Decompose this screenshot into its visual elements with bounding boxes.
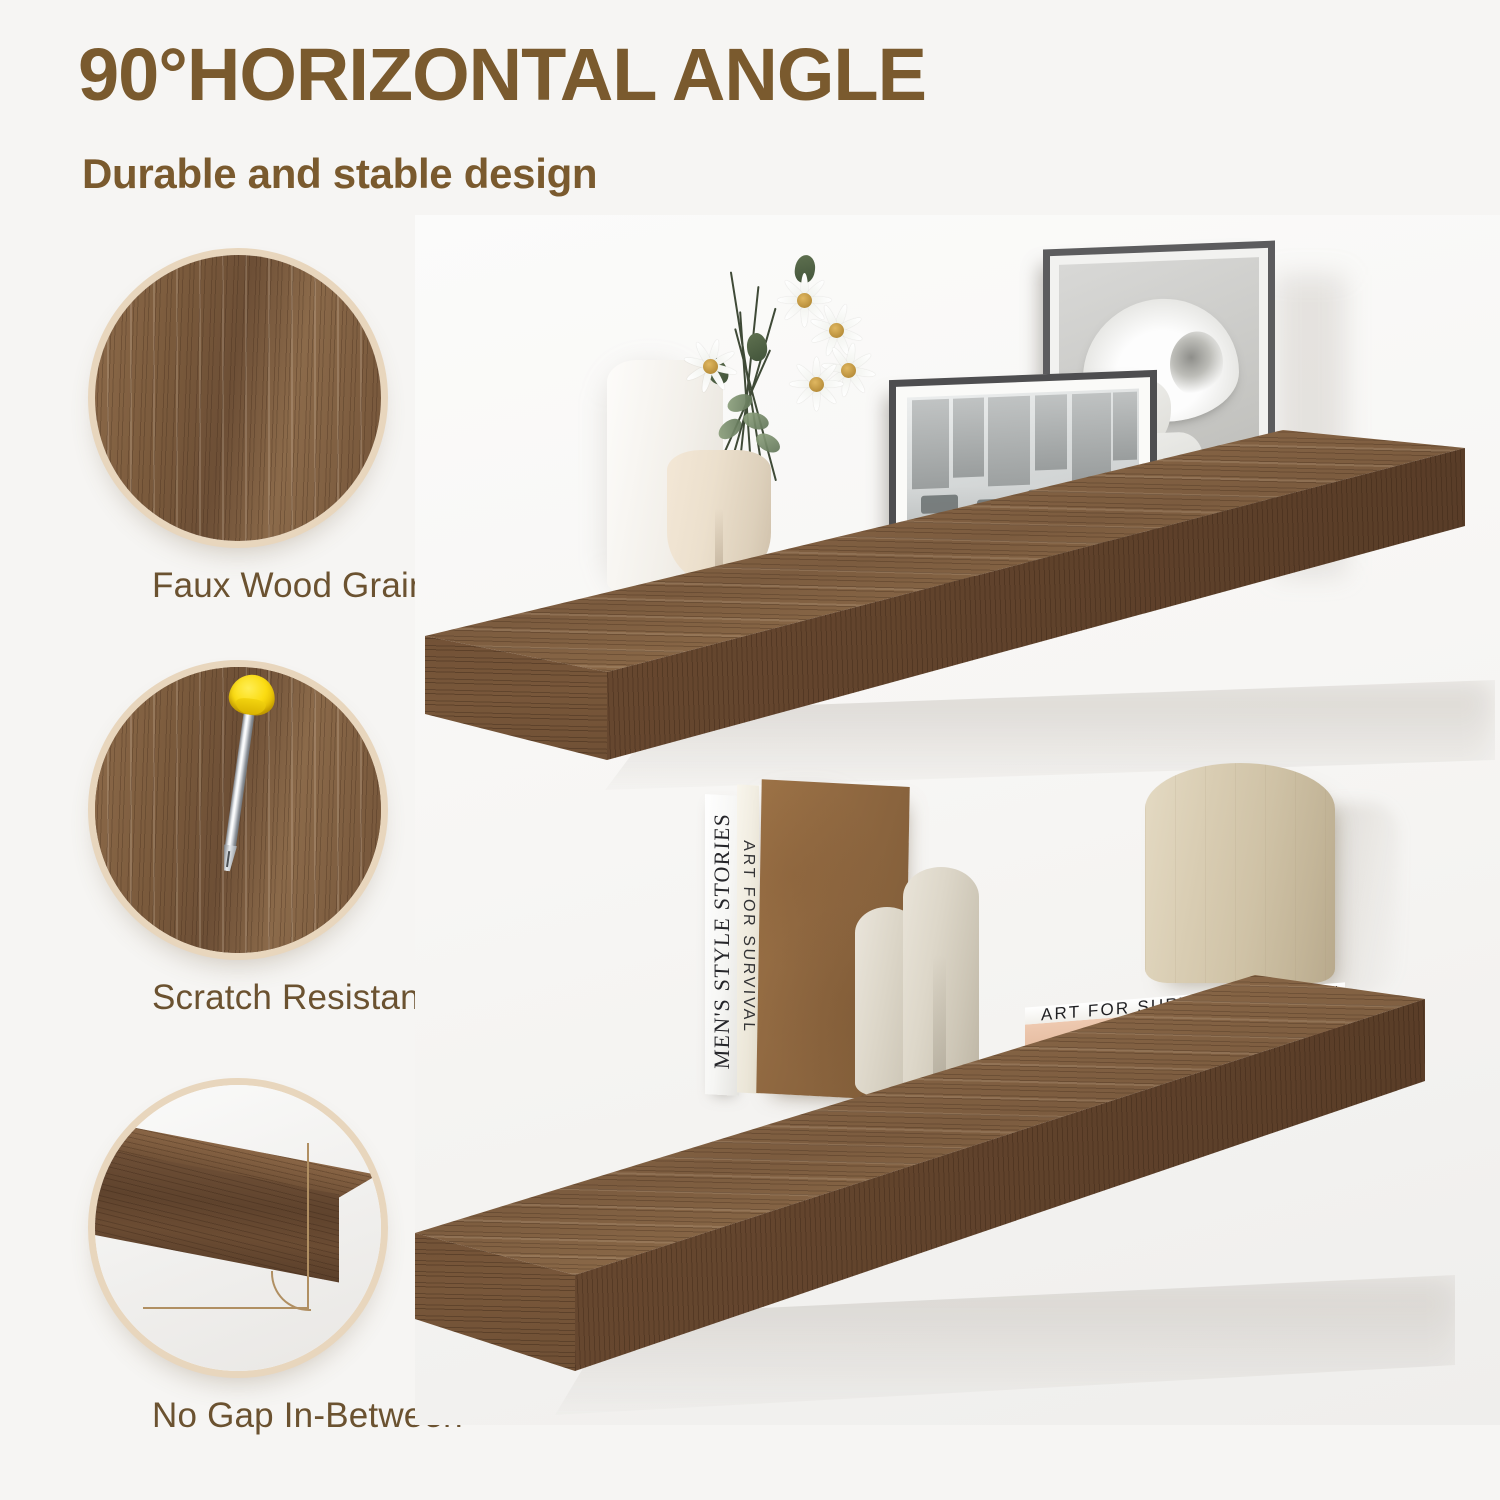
feature-scratch-resistance: Scratch Resistance bbox=[0, 660, 470, 960]
angle-horizontal-line bbox=[143, 1307, 309, 1309]
lower-shelf bbox=[415, 975, 1455, 1375]
lower-shelf-top-surface bbox=[415, 975, 1455, 1305]
large-cylinder-vessel bbox=[1145, 763, 1335, 983]
upper-shelf bbox=[425, 430, 1465, 760]
feature-label-scratch-resistance: Scratch Resistance bbox=[152, 978, 457, 1018]
daisy-flower bbox=[681, 337, 739, 395]
page-subtitle: Durable and stable design bbox=[82, 150, 597, 198]
wood-grain-swatch-icon bbox=[88, 248, 388, 548]
product-photo-scene: MEN'S STYLE STORIES ART FOR SURVIVAL ART… bbox=[415, 215, 1500, 1425]
feature-label-faux-wood-grain: Faux Wood Grain bbox=[152, 566, 429, 606]
right-angle-arc bbox=[271, 1271, 311, 1311]
feature-faux-wood-grain: Faux Wood Grain bbox=[0, 248, 470, 548]
shelf-right-angle-diagram-icon bbox=[88, 1078, 388, 1378]
feature-no-gap-in-between: No Gap In-Between bbox=[0, 1078, 470, 1378]
shelf-edge-graphic bbox=[88, 1144, 339, 1283]
product-marketing-image: 90°HORIZONTAL ANGLE Durable and stable d… bbox=[0, 0, 1500, 1500]
page-title: 90°HORIZONTAL ANGLE bbox=[78, 36, 926, 114]
daisy-flower bbox=[787, 355, 845, 413]
screwdriver-on-wood-icon bbox=[88, 660, 388, 960]
